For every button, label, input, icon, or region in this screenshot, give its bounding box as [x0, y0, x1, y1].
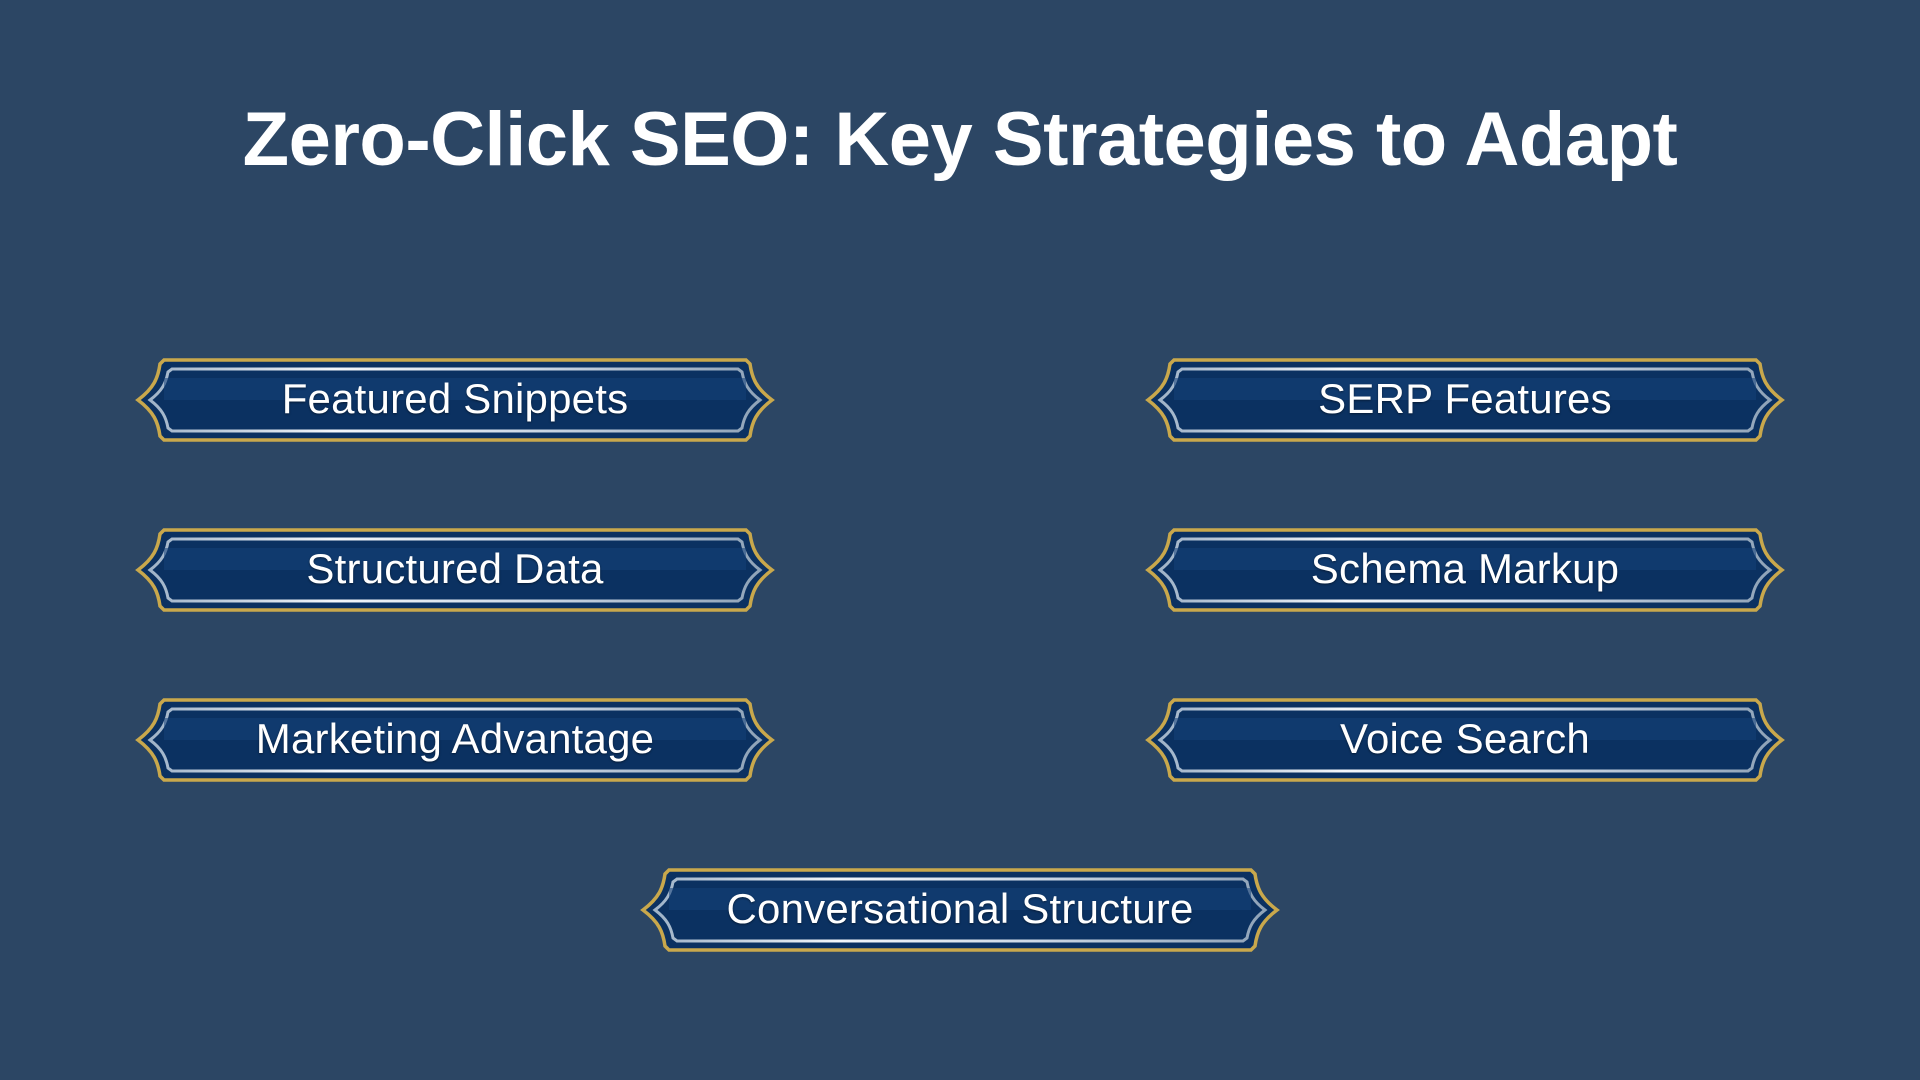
pill-conversational-structure[interactable]: Conversational Structure — [625, 862, 1295, 958]
pill-marketing-advantage[interactable]: Marketing Advantage — [120, 692, 790, 788]
pill-slot-right: SERP Features — [1130, 352, 1800, 448]
pill-grid: Featured Snippets — [0, 352, 1920, 1032]
pill-featured-snippets[interactable]: Featured Snippets — [120, 352, 790, 448]
pill-row: Structured Data — [0, 522, 1920, 692]
pill-serp-features[interactable]: SERP Features — [1130, 352, 1800, 448]
pill-slot-right: Voice Search — [1130, 692, 1800, 788]
slide-canvas: Zero-Click SEO: Key Strategies to Adapt — [0, 0, 1920, 1080]
pill-row: Conversational Structure — [0, 862, 1920, 1032]
pill-label: Schema Markup — [1130, 522, 1800, 618]
pill-schema-markup[interactable]: Schema Markup — [1130, 522, 1800, 618]
pill-label: Featured Snippets — [120, 352, 790, 448]
pill-label: Marketing Advantage — [120, 692, 790, 788]
pill-row: Marketing Advantage — [0, 692, 1920, 862]
page-title: Zero-Click SEO: Key Strategies to Adapt — [0, 98, 1920, 182]
pill-slot-left: Structured Data — [120, 522, 790, 618]
pill-slot-center: Conversational Structure — [625, 862, 1295, 958]
pill-structured-data[interactable]: Structured Data — [120, 522, 790, 618]
pill-label: Voice Search — [1130, 692, 1800, 788]
pill-label: Structured Data — [120, 522, 790, 618]
pill-voice-search[interactable]: Voice Search — [1130, 692, 1800, 788]
pill-slot-left: Featured Snippets — [120, 352, 790, 448]
pill-label: SERP Features — [1130, 352, 1800, 448]
pill-slot-left: Marketing Advantage — [120, 692, 790, 788]
pill-row: Featured Snippets — [0, 352, 1920, 522]
pill-slot-right: Schema Markup — [1130, 522, 1800, 618]
pill-label: Conversational Structure — [625, 862, 1295, 958]
